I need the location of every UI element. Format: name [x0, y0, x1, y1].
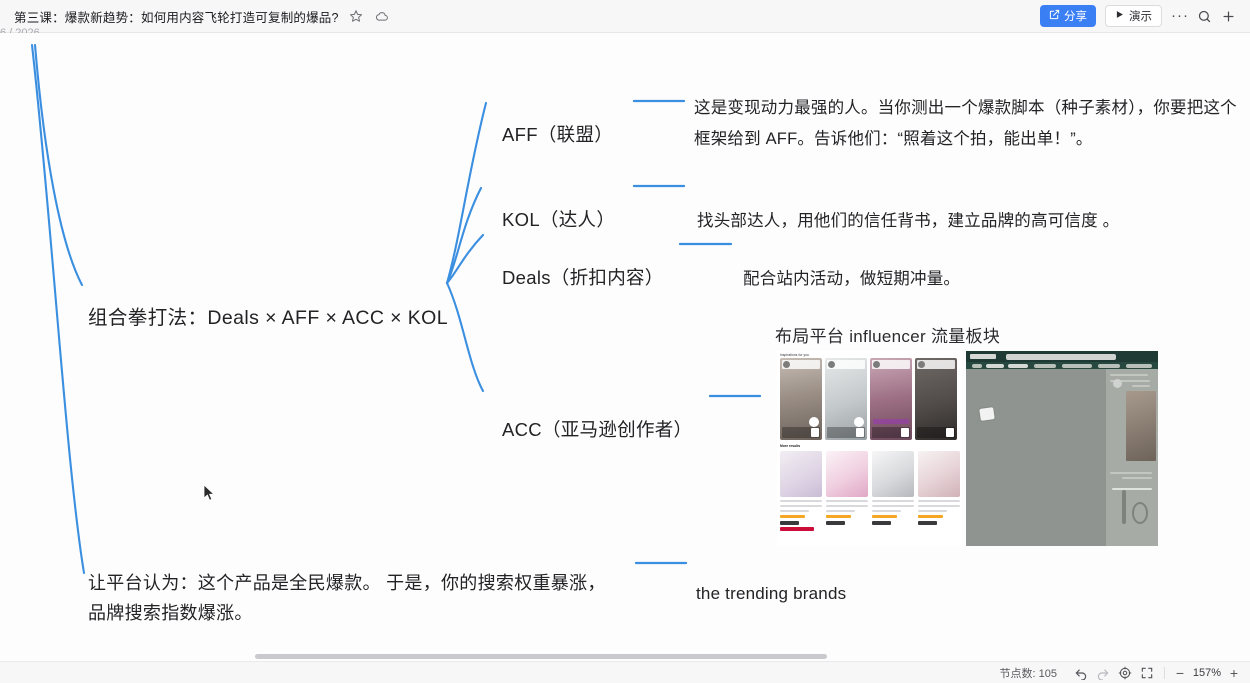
- nav-pill: [972, 364, 982, 369]
- avatar: [1113, 379, 1122, 388]
- share-button[interactable]: 分享: [1040, 5, 1096, 27]
- product-card: [918, 451, 960, 531]
- fit-screen-icon[interactable]: [1137, 664, 1157, 682]
- reel-thumbnail: [870, 358, 912, 440]
- star-icon[interactable]: [348, 8, 365, 25]
- product-icon: [1122, 490, 1126, 524]
- share-label: 分享: [1064, 8, 1087, 24]
- cloud-sync-icon[interactable]: [374, 8, 391, 25]
- node-kol-description[interactable]: 找头部达人，用他们的信任背书，建立品牌的高可信度 。: [697, 207, 1119, 231]
- reel-thumbnail: [915, 358, 957, 440]
- present-label: 演示: [1129, 8, 1152, 24]
- node-aff-description[interactable]: 这是变现动力最强的人。当你测出一个爆款脚本（种子素材），你要把这个框架给到 AF…: [694, 93, 1248, 155]
- nav-pill: [986, 364, 1004, 369]
- embedded-image-amazon-page[interactable]: [966, 351, 1158, 546]
- nav-pill: [1008, 364, 1028, 369]
- embedded-image-amazon-feed[interactable]: Inspirations for you More results: [777, 351, 962, 546]
- panel-photo: [1126, 391, 1156, 461]
- divider: [1164, 667, 1165, 679]
- product-card: [780, 451, 822, 531]
- node-trending-brands[interactable]: the trending brands: [696, 584, 846, 604]
- reel-thumbnail: [825, 358, 867, 440]
- node-aff[interactable]: AFF（联盟）: [502, 121, 613, 147]
- node-center[interactable]: 组合拳打法：Deals × AFF × ACC × KOL: [88, 301, 448, 330]
- zoom-out-button[interactable]: −: [1172, 666, 1188, 680]
- zoom-in-button[interactable]: +: [1226, 666, 1242, 680]
- share-external-icon: [1049, 9, 1060, 23]
- node-kol[interactable]: KOL（达人）: [502, 206, 615, 232]
- amazon-navbar: [966, 351, 1158, 362]
- mindmap-app: 第三课：爆款新趋势：如何用内容飞轮打造可复制的爆品? 分享: [0, 0, 1250, 683]
- product-row: [777, 449, 962, 531]
- product-icon: [1132, 502, 1148, 524]
- nav-pill: [1062, 364, 1092, 369]
- search-icon[interactable]: [1192, 4, 1216, 28]
- node-deals[interactable]: Deals（折扣内容）: [502, 264, 664, 290]
- plus-icon[interactable]: [1216, 4, 1240, 28]
- document-title[interactable]: 第三课：爆款新趋势：如何用内容飞轮打造可复制的爆品?: [14, 7, 339, 26]
- status-bar: 节点数: 105 − 157% +: [0, 661, 1250, 683]
- node-influencer-heading[interactable]: 布局平台 influencer 流量板块: [775, 322, 1000, 347]
- mindmap-canvas[interactable]: 组合拳打法：Deals × AFF × ACC × KOL AFF（联盟） KO…: [0, 33, 1250, 683]
- zoom-level-label[interactable]: 157%: [1190, 667, 1224, 679]
- nav-pill: [1126, 364, 1152, 369]
- toolbar-actions: 分享 演示 ···: [1040, 4, 1240, 28]
- node-deals-description[interactable]: 配合站内活动，做短期冲量。: [743, 265, 960, 289]
- product-card: [872, 451, 914, 531]
- top-toolbar: 第三课：爆款新趋势：如何用内容飞轮打造可复制的爆品? 分享: [0, 0, 1250, 33]
- node-count-label: 节点数: 105: [1000, 665, 1057, 681]
- screenshot-cursor-icon: [979, 407, 995, 421]
- reels-row: [777, 358, 962, 440]
- nav-pill: [1034, 364, 1056, 369]
- product-card: [826, 451, 868, 531]
- present-button[interactable]: 演示: [1105, 5, 1162, 27]
- reel-thumbnail: [780, 358, 822, 440]
- more-options-button[interactable]: ···: [1168, 4, 1192, 28]
- redo-icon[interactable]: [1093, 664, 1113, 682]
- node-acc[interactable]: ACC（亚马逊创作者）: [502, 416, 692, 442]
- nav-pill: [1098, 364, 1120, 369]
- amazon-logo: [970, 354, 996, 359]
- horizontal-scrollbar-thumb[interactable]: [255, 654, 827, 659]
- play-icon: [1115, 10, 1124, 22]
- more-results-label: More results: [777, 440, 962, 449]
- node-bottom-statement[interactable]: 让平台认为：这个产品是全民爆款。 于是，你的搜索权重暴涨， 品牌搜索指数爆涨。: [88, 568, 606, 628]
- undo-icon[interactable]: [1071, 664, 1091, 682]
- mouse-pointer-icon: [204, 485, 216, 502]
- focus-target-icon[interactable]: [1115, 664, 1135, 682]
- amazon-search-bar: [1006, 354, 1116, 360]
- inspirations-label: Inspirations for you: [777, 351, 962, 358]
